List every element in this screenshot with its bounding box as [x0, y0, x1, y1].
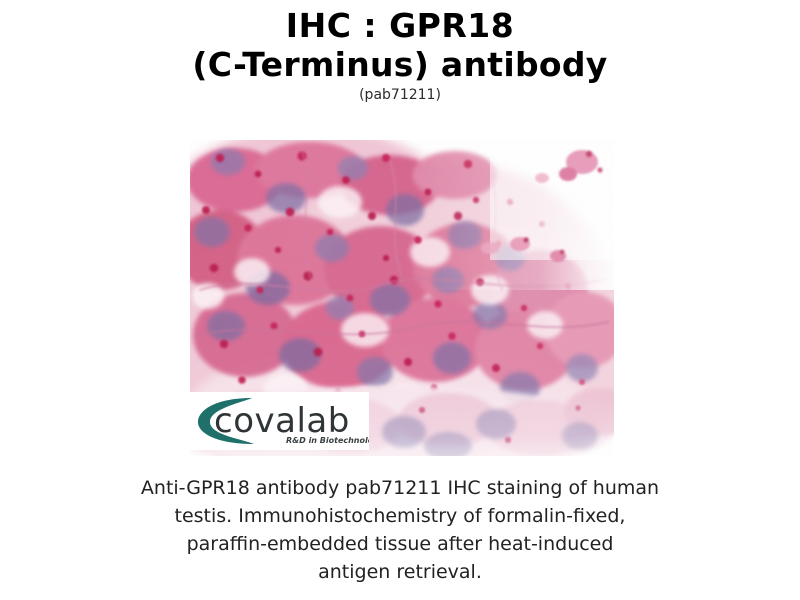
caption-line-1: Anti-GPR18 antibody pab71211 IHC stainin… [100, 474, 700, 502]
covalab-logo-watermark: covalab R&D in Biotechnology [190, 392, 369, 450]
page-subtitle: (C-Terminus) antibody [0, 45, 800, 85]
micrograph-figure: covalab R&D in Biotechnology [190, 140, 614, 456]
catalog-number: (pab71211) [0, 86, 800, 104]
covalab-logo: covalab R&D in Biotechnology [190, 392, 369, 450]
page-title: IHC : GPR18 [0, 6, 800, 45]
caption-line-4: antigen retrieval. [100, 558, 700, 586]
figure-header: IHC : GPR18 (C-Terminus) antibody (pab71… [0, 0, 800, 104]
caption-line-2: testis. Immunohistochemistry of formalin… [100, 502, 700, 530]
figure-caption: Anti-GPR18 antibody pab71211 IHC stainin… [100, 474, 700, 586]
covalab-tagline: R&D in Biotechnology [286, 436, 369, 445]
caption-line-3: paraffin-embedded tissue after heat-indu… [100, 530, 700, 558]
covalab-wordmark: covalab [214, 401, 350, 441]
